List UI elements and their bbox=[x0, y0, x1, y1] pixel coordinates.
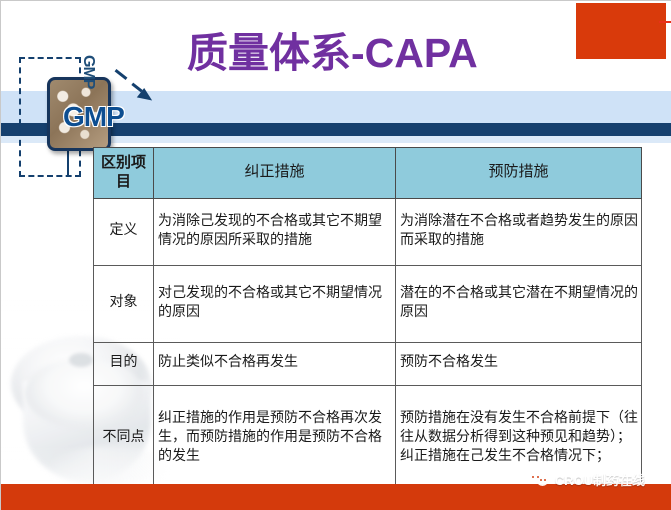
row-label-difference: 不同点 bbox=[94, 385, 154, 492]
row-label-definition: 定义 bbox=[94, 198, 154, 265]
row-label-purpose: 目的 bbox=[94, 342, 154, 385]
photo-knob-shape bbox=[69, 353, 93, 367]
slide-canvas: 质量体系-CAPA GMP GMP 区别项目 纠正措施 预防措施 bbox=[0, 0, 671, 510]
watermark: CROU制药在线 bbox=[529, 470, 645, 489]
cell-definition-corrective: 为消除己发现的不合格或其它不期望情况的原因所采取的措施 bbox=[154, 198, 396, 265]
capa-comparison-table: 区别项目 纠正措施 预防措施 定义 为消除己发现的不合格或其它不期望情况的原因所… bbox=[93, 147, 642, 493]
cell-difference-corrective: 纠正措施的作用是预防不合格再次发生，而预防措施的作用是预防不合格的发生 bbox=[154, 385, 396, 492]
orange-accent-square bbox=[576, 3, 666, 59]
row-label-object: 对象 bbox=[94, 265, 154, 342]
cell-object-corrective: 对己发现的不合格或其它不期望情况的原因 bbox=[154, 265, 396, 342]
col-header-corrective: 纠正措施 bbox=[154, 148, 396, 199]
cell-definition-preventive: 为消除潜在不合格或者趋势发生的原因而采取的措施 bbox=[396, 198, 642, 265]
wechat-icon bbox=[529, 472, 549, 487]
cell-purpose-preventive: 预防不合格发生 bbox=[396, 342, 642, 385]
cell-purpose-corrective: 防止类似不合格再发生 bbox=[154, 342, 396, 385]
table-row: 目的 防止类似不合格再发生 预防不合格发生 bbox=[94, 342, 642, 385]
table-header-row: 区别项目 纠正措施 预防措施 bbox=[94, 148, 642, 199]
table-row: 定义 为消除己发现的不合格或其它不期望情况的原因所采取的措施 为消除潜在不合格或… bbox=[94, 198, 642, 265]
col-header-preventive: 预防措施 bbox=[396, 148, 642, 199]
table-body: 定义 为消除己发现的不合格或其它不期望情况的原因所采取的措施 为消除潜在不合格或… bbox=[94, 198, 642, 492]
table-header: 区别项目 纠正措施 预防措施 bbox=[94, 148, 642, 199]
page-title: 质量体系-CAPA bbox=[187, 33, 587, 74]
gmp-wordmark: GMP bbox=[63, 101, 124, 133]
arrow-dash-segment-one bbox=[115, 69, 128, 80]
red-tick-mark bbox=[659, 21, 671, 23]
cell-object-preventive: 潜在的不合格或其它潜在不期望情况的原因 bbox=[396, 265, 642, 342]
watermark-label: CROU制药在线 bbox=[555, 470, 645, 489]
table-row: 对象 对己发现的不合格或其它不期望情况的原因 潜在的不合格或其它潜在不期望情况的… bbox=[94, 265, 642, 342]
gmp-rotated-label: GMP bbox=[79, 55, 97, 88]
col-header-item: 区别项目 bbox=[94, 148, 154, 199]
